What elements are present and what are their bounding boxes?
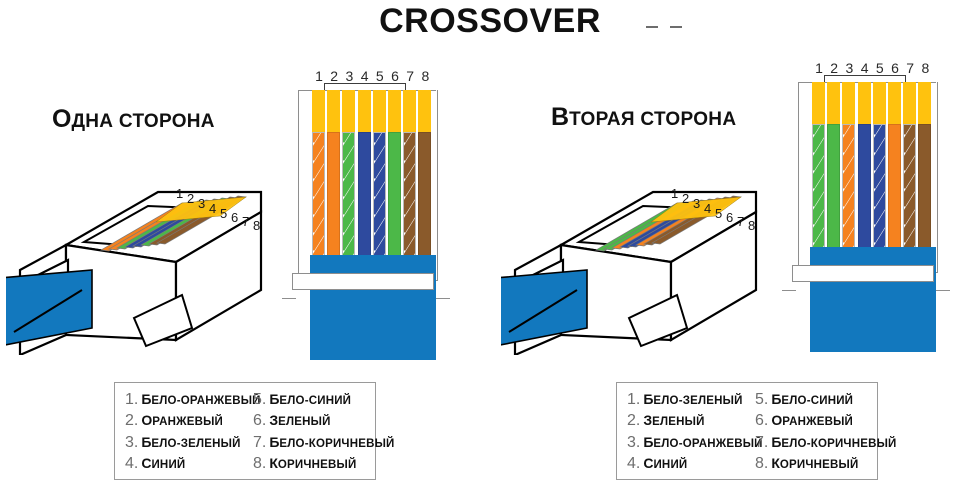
gold-contact-8 [418,90,431,134]
wire-7-brown-striped [403,132,416,257]
pin-number-2: 2 [827,60,841,76]
pin-number-1: 1 [312,68,326,84]
legend-item-8: 8.КОРИЧНЕВЫЙ [755,454,871,476]
legend-item-number: 7. [253,434,266,452]
svg-text:3: 3 [693,196,700,211]
svg-text:7: 7 [242,214,249,229]
wire-7-brown-striped [903,124,916,249]
rj45-plug-isometric-left: 1 2 3 4 5 6 7 8 [6,150,266,355]
svg-text:6: 6 [726,210,733,225]
legend-item-6: 6.ОРАНЖЕВЫЙ [755,411,871,433]
legend-item-number: 8. [755,455,768,473]
page-title: CROSSOVER [0,2,980,41]
connector-wing-left-r [436,298,450,299]
svg-text:2: 2 [187,191,194,206]
rj45-front-view-left: 12345678 [288,68,438,368]
legend-item-number: 5. [755,391,768,409]
connector-wing-right-l [782,290,796,291]
legend-grid-right: 1.БЕЛО-ЗЕЛЕНЫЙ2.ЗЕЛЕНЫЙ3.БЕЛО-ОРАНЖЕВЫЙ4… [627,389,871,475]
gold-contact-6 [888,82,901,126]
gold-contact-1 [812,82,825,126]
svg-text:6: 6 [231,210,238,225]
pin-number-8: 8 [418,68,432,84]
wire-3-orange-striped [842,124,855,249]
pin-number-5: 5 [873,60,887,76]
pin-number-3: 3 [342,68,356,84]
wire-2-orange-solid [327,132,340,257]
pin-number-row-left: 12345678 [312,68,434,84]
pin-number-5: 5 [373,68,387,84]
legend-item-label: БЕЛО-ЗЕЛЕНЫЙ [141,434,240,452]
legend-item-3: 3.БЕЛО-ОРАНЖЕВЫЙ [627,432,755,454]
legend-item-2: 2.ЗЕЛЕНЫЙ [627,411,755,433]
gold-contact-4 [858,82,871,126]
legend-item-5: 5.БЕЛО-СИНИЙ [755,389,871,411]
legend-item-number: 4. [125,455,138,473]
legend-item-label: КОРИЧНЕВЫЙ [269,455,356,473]
svg-text:1: 1 [176,186,183,201]
legend-item-2: 2.ОРАНЖЕВЫЙ [125,411,253,433]
legend-item-label: БЕЛО-ЗЕЛЕНЫЙ [643,391,742,409]
legend-item-label: ОРАНЖЕВЫЙ [141,412,223,430]
gold-contact-2 [327,90,340,134]
wire-5-blue-striped [873,124,886,249]
connector-band-left [292,273,434,290]
svg-text:7: 7 [737,214,744,229]
gold-contacts-left [312,90,434,134]
wire-strip-row-left [312,132,434,257]
legend-item-label: СИНИЙ [141,455,185,473]
legend-item-label: БЕЛО-ОРАНЖЕВЫЙ [141,391,260,409]
gold-contact-3 [342,90,355,134]
gold-contact-3 [842,82,855,126]
svg-text:5: 5 [715,206,722,221]
connector-housing-left [310,255,436,360]
wire-6-orange-solid [888,124,901,249]
svg-text:8: 8 [748,218,755,233]
pin-number-2: 2 [327,68,341,84]
legend-box-left: 1.БЕЛО-ОРАНЖЕВЫЙ2.ОРАНЖЕВЫЙ3.БЕЛО-ЗЕЛЕНЫ… [114,382,376,480]
pin-number-4: 4 [858,60,872,76]
legend-item-number: 3. [627,434,640,452]
wire-4-blue-solid [858,124,871,249]
legend-item-number: 7. [755,434,768,452]
legend-item-5: 5.БЕЛО-СИНИЙ [253,389,369,411]
gold-contact-7 [903,82,916,126]
legend-item-label: БЕЛО-КОРИЧНЕВЫЙ [269,434,394,452]
pin-number-3: 3 [842,60,856,76]
legend-item-3: 3.БЕЛО-ЗЕЛЕНЫЙ [125,432,253,454]
title-dash-marks [640,22,700,32]
legend-item-label: БЕЛО-ОРАНЖЕВЫЙ [643,434,762,452]
gold-contacts-right [812,82,934,126]
pin-number-8: 8 [918,60,932,76]
svg-text:8: 8 [253,218,260,233]
gold-contact-7 [403,90,416,134]
legend-grid-left: 1.БЕЛО-ОРАНЖЕВЫЙ2.ОРАНЖЕВЫЙ3.БЕЛО-ЗЕЛЕНЫ… [125,389,369,475]
legend-item-number: 6. [253,412,266,430]
legend-item-label: КОРИЧНЕВЫЙ [771,455,858,473]
legend-item-number: 5. [253,391,266,409]
svg-text:5: 5 [220,206,227,221]
legend-item-label: БЕЛО-СИНИЙ [269,391,351,409]
gold-contact-4 [358,90,371,134]
wire-1-green-striped [812,124,825,249]
wire-3-green-striped [342,132,355,257]
legend-box-right: 1.БЕЛО-ЗЕЛЕНЫЙ2.ЗЕЛЕНЫЙ3.БЕЛО-ОРАНЖЕВЫЙ4… [616,382,878,480]
wire-5-blue-striped [373,132,386,257]
legend-item-number: 6. [755,412,768,430]
wire-4-blue-solid [358,132,371,257]
rj45-plug-isometric-right: 1 2 3 4 5 6 7 8 [501,150,761,355]
caption-one-side: ОДНА СТОРОНА [52,105,215,134]
gold-contact-6 [388,90,401,134]
legend-item-number: 2. [627,412,640,430]
wire-2-green-solid [827,124,840,249]
pin-number-4: 4 [358,68,372,84]
pin-number-row-right: 12345678 [812,60,934,76]
connector-wing-right-r [936,290,950,291]
gold-contact-2 [827,82,840,126]
gold-contact-8 [918,82,931,126]
legend-item-label: ОРАНЖЕВЫЙ [771,412,853,430]
wire-8-brown-solid [918,124,931,249]
rj45-front-view-right: 12345678 [788,60,938,360]
legend-item-1: 1.БЕЛО-ОРАНЖЕВЫЙ [125,389,253,411]
svg-text:4: 4 [209,201,216,216]
svg-text:4: 4 [704,201,711,216]
svg-text:3: 3 [198,196,205,211]
legend-item-label: БЕЛО-КОРИЧНЕВЫЙ [771,434,896,452]
connector-wing-left-l [282,298,296,299]
connector-band-right [792,265,934,282]
gold-contact-1 [312,90,325,134]
pin-number-1: 1 [812,60,826,76]
legend-item-6: 6.ЗЕЛЕНЫЙ [253,411,369,433]
wire-1-orange-striped [312,132,325,257]
pin-number-7: 7 [403,68,417,84]
svg-text:2: 2 [682,191,689,206]
legend-item-7: 7.БЕЛО-КОРИЧНЕВЫЙ [253,432,369,454]
legend-item-number: 1. [627,391,640,409]
pin-number-6: 6 [888,60,902,76]
legend-item-number: 8. [253,455,266,473]
wire-6-green-solid [388,132,401,257]
legend-item-4: 4.СИНИЙ [627,454,755,476]
wire-strip-row-right [812,124,934,249]
legend-item-label: ЗЕЛЕНЫЙ [269,412,330,430]
diagram-canvas: CROSSOVER ОДНА СТОРОНА [0,0,980,491]
legend-item-label: ЗЕЛЕНЫЙ [643,412,704,430]
gold-contact-5 [873,82,886,126]
legend-item-7: 7.БЕЛО-КОРИЧНЕВЫЙ [755,432,871,454]
caption-second-side: ВТОРАЯ СТОРОНА [551,103,736,132]
legend-item-label: СИНИЙ [643,455,687,473]
legend-item-8: 8.КОРИЧНЕВЫЙ [253,454,369,476]
legend-item-number: 3. [125,434,138,452]
connector-housing-right [810,247,936,352]
svg-text:1: 1 [671,186,678,201]
legend-item-number: 4. [627,455,640,473]
legend-item-4: 4.СИНИЙ [125,454,253,476]
wire-8-brown-solid [418,132,431,257]
legend-item-1: 1.БЕЛО-ЗЕЛЕНЫЙ [627,389,755,411]
pin-number-6: 6 [388,68,402,84]
legend-item-number: 2. [125,412,138,430]
legend-item-number: 1. [125,391,138,409]
legend-item-label: БЕЛО-СИНИЙ [771,391,853,409]
pin-number-7: 7 [903,60,917,76]
gold-contact-5 [373,90,386,134]
